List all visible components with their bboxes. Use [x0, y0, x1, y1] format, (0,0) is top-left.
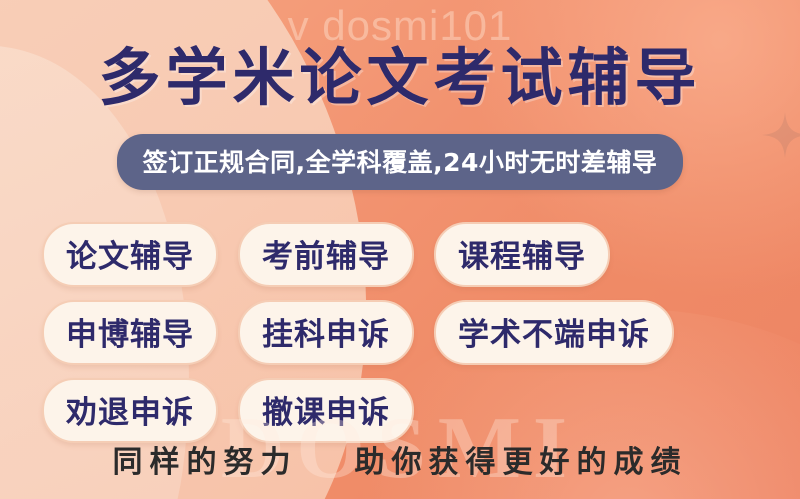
service-row-2: 申博辅导 挂科申诉 学术不端申诉 — [42, 300, 760, 365]
footer-tagline-left: 同样的努力 — [113, 445, 298, 480]
subtitle-text: 签订正规合同,全学科覆盖,24小时无时差辅导 — [117, 134, 684, 190]
service-pill-dismissal-appeal[interactable]: 劝退申诉 — [42, 378, 218, 443]
service-pill-thesis-tutoring[interactable]: 论文辅导 — [42, 222, 218, 287]
service-pill-course-tutoring[interactable]: 课程辅导 — [434, 222, 610, 287]
service-row-1: 论文辅导 考前辅导 课程辅导 — [42, 222, 760, 287]
subtitle-banner: 签订正规合同,全学科覆盖,24小时无时差辅导 — [0, 134, 800, 190]
service-pill-failed-course-appeal[interactable]: 挂科申诉 — [238, 300, 414, 365]
service-row-3: 劝退申诉 撤课申诉 — [42, 378, 760, 443]
service-pill-academic-misconduct-appeal[interactable]: 学术不端申诉 — [434, 300, 674, 365]
footer-tagline: 同样的努力 助你获得更好的成绩 — [0, 437, 800, 481]
service-pill-course-withdrawal-appeal[interactable]: 撤课申诉 — [238, 378, 414, 443]
service-pill-phd-application-tutoring[interactable]: 申博辅导 — [42, 300, 218, 365]
service-pill-grid: 论文辅导 考前辅导 课程辅导 申博辅导 挂科申诉 学术不端申诉 劝退申诉 撤课申… — [42, 222, 760, 456]
page-title: 多学米论文考试辅导 — [0, 45, 800, 112]
footer-tagline-right: 助你获得更好的成绩 — [354, 445, 687, 480]
service-pill-pre-exam-tutoring[interactable]: 考前辅导 — [238, 222, 414, 287]
promo-poster: v dosmi101 多学米论文考试辅导 签订正规合同,全学科覆盖,24小时无时… — [0, 0, 800, 499]
